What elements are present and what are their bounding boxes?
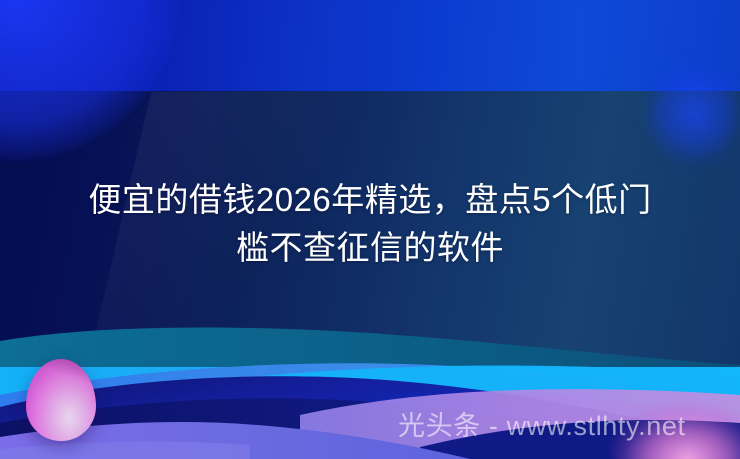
title-line-1: 便宜的借钱2026年精选，盘点5个低门 xyxy=(14,176,726,224)
watermark-text: 光头条 - www.stlhty.net xyxy=(398,409,686,443)
glow-right-icon xyxy=(648,58,740,168)
title-line-2: 槛不查征信的软件 xyxy=(14,224,726,272)
page-title: 便宜的借钱2026年精选，盘点5个低门 槛不查征信的软件 xyxy=(0,176,740,272)
poster-image: 便宜的借钱2026年精选，盘点5个低门 槛不查征信的软件 光头条 - www.s… xyxy=(0,0,740,459)
